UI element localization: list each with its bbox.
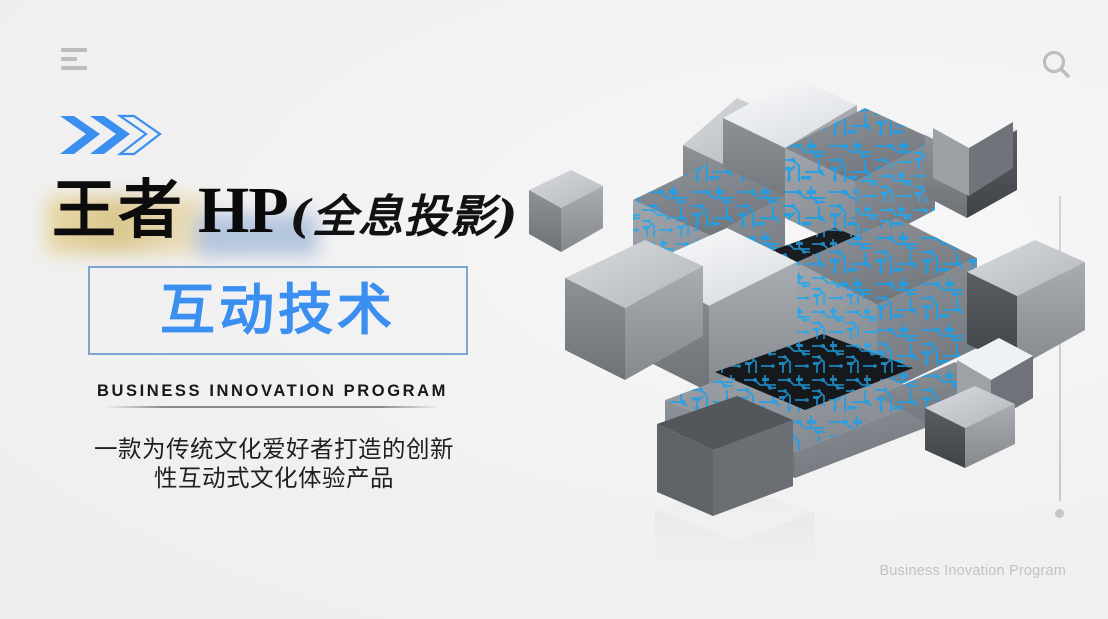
page-title: 王者 HP (全息投影) [52,178,518,244]
title-parenthetical: (全息投影) [290,194,519,239]
exploded-3d-circuit-cube: Business Inovation Program [505,0,1108,619]
description-line-2: 性互动式文化体验产品 [0,464,548,493]
slide-root: Business Inovation Program 王者 HP (全息投影) … [0,0,1108,619]
artwork-caption: Business Inovation Program [879,563,1066,579]
english-subtitle: BUSINESS INNOVATION PROGRAM [0,382,545,401]
description-line-1: 一款为传统文化爱好者打造的创新 [0,435,548,464]
chevron-arrows-logo [58,112,178,160]
description-text: 一款为传统文化爱好者打造的创新 性互动式文化体验产品 [0,435,548,493]
title-main: 王者 [52,179,184,243]
title-brand: HP [198,178,288,244]
hero-content: 王者 HP (全息投影) 互动技术 BUSINESS INNOVATION PR… [0,0,560,619]
boxed-title: 互动技术 [88,266,468,355]
subtitle-divider [104,406,440,408]
boxed-title-label: 互动技术 [160,283,396,338]
